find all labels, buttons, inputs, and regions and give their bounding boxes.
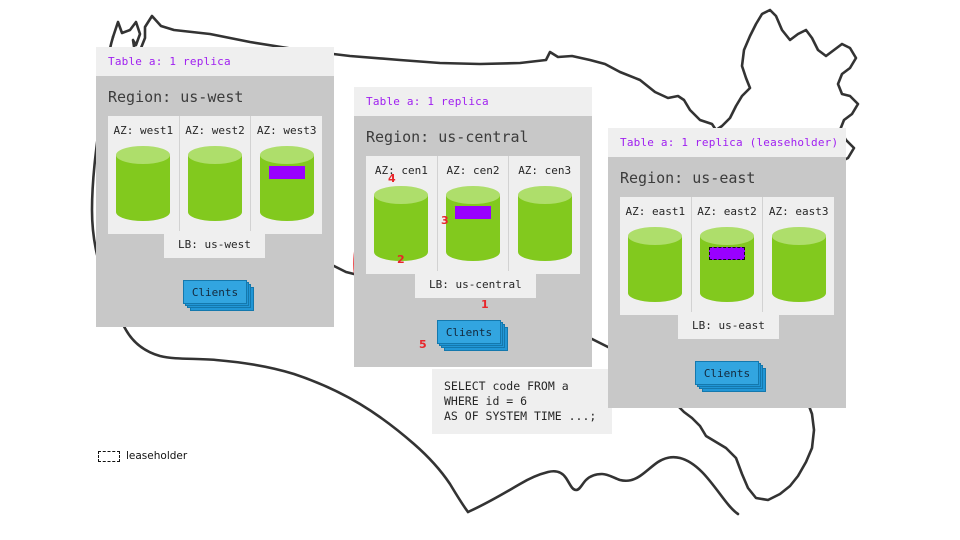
node-cylinder-cen1[interactable] — [374, 186, 428, 260]
node-cylinder-east3[interactable] — [772, 227, 826, 301]
step-number-5: 5 — [419, 338, 427, 351]
legend: leaseholder — [98, 450, 187, 462]
az-cen3[interactable]: AZ: cen3 — [509, 156, 580, 274]
cylinder-top — [116, 146, 170, 164]
cylinder-top — [188, 146, 242, 164]
region-banner-us-west: Table a: 1 replica — [96, 47, 334, 76]
region-panel-us-central: Table a: 1 replica Region: us-central AZ… — [354, 87, 592, 367]
step-number-3: 3 — [441, 214, 449, 227]
az-west3[interactable]: AZ: west3 — [251, 116, 322, 234]
az-label-cen3: AZ: cen3 — [509, 164, 580, 177]
region-title-us-central: Region: us-central — [354, 116, 592, 156]
node-cylinder-cen3[interactable] — [518, 186, 572, 260]
cylinder-top — [700, 227, 754, 245]
clients-label-us-central: Clients — [437, 320, 501, 344]
replica-marker-cen2 — [455, 206, 491, 219]
az-label-west3: AZ: west3 — [251, 124, 322, 137]
region-panel-us-west: Table a: 1 replica Region: us-west AZ: w… — [96, 47, 334, 327]
cylinder-top — [260, 146, 314, 164]
dashed-rect-icon — [98, 451, 120, 462]
az-strip-us-west: AZ: west1 AZ: west2 AZ: west3 — [108, 116, 322, 234]
cylinder-top — [374, 186, 428, 204]
gulf-coast-path — [468, 457, 738, 514]
clients-label-us-east: Clients — [695, 361, 759, 385]
cylinder-top — [518, 186, 572, 204]
az-strip-us-east: AZ: east1 AZ: east2 AZ: east3 — [620, 197, 834, 315]
node-cylinder-east2[interactable] — [700, 227, 754, 301]
clients-label-us-west: Clients — [183, 280, 247, 304]
step-number-1: 1 — [481, 298, 489, 311]
az-label-east2: AZ: east2 — [692, 205, 763, 218]
az-west1[interactable]: AZ: west1 — [108, 116, 180, 234]
clients-stack-us-central[interactable]: Clients — [437, 320, 501, 344]
region-banner-us-central: Table a: 1 replica — [354, 87, 592, 116]
load-balancer-us-west[interactable]: LB: us-west — [164, 231, 265, 258]
region-banner-us-east: Table a: 1 replica (leaseholder) — [608, 128, 846, 157]
az-west2[interactable]: AZ: west2 — [180, 116, 252, 234]
region-title-us-east: Region: us-east — [608, 157, 846, 197]
step-number-4: 4 — [388, 172, 396, 185]
cylinder-top — [772, 227, 826, 245]
diagram-stage: Table a: 1 replica Region: us-west AZ: w… — [0, 0, 960, 540]
az-label-east3: AZ: east3 — [763, 205, 834, 218]
az-label-cen1: AZ: cen1 — [366, 164, 437, 177]
step-number-2: 2 — [397, 253, 405, 266]
az-label-east1: AZ: east1 — [620, 205, 691, 218]
az-label-west1: AZ: west1 — [108, 124, 179, 137]
load-balancer-us-central[interactable]: LB: us-central — [415, 271, 536, 298]
legend-label: leaseholder — [126, 450, 187, 462]
node-cylinder-west1[interactable] — [116, 146, 170, 220]
region-panel-us-east: Table a: 1 replica (leaseholder) Region:… — [608, 128, 846, 408]
sql-query-box: SELECT code FROM a WHERE id = 6 AS OF SY… — [432, 369, 612, 434]
az-east3[interactable]: AZ: east3 — [763, 197, 834, 315]
region-title-us-west: Region: us-west — [96, 76, 334, 116]
node-cylinder-west2[interactable] — [188, 146, 242, 220]
cylinder-top — [628, 227, 682, 245]
az-east1[interactable]: AZ: east1 — [620, 197, 692, 315]
az-east2[interactable]: AZ: east2 — [692, 197, 764, 315]
replica-marker-leaseholder-east2 — [709, 247, 745, 260]
clients-stack-us-west[interactable]: Clients — [183, 280, 247, 304]
replica-marker-west3 — [269, 166, 305, 179]
load-balancer-us-east[interactable]: LB: us-east — [678, 312, 779, 339]
cylinder-top — [446, 186, 500, 204]
node-cylinder-east1[interactable] — [628, 227, 682, 301]
node-cylinder-cen2[interactable] — [446, 186, 500, 260]
az-label-west2: AZ: west2 — [180, 124, 251, 137]
az-label-cen2: AZ: cen2 — [438, 164, 509, 177]
clients-stack-us-east[interactable]: Clients — [695, 361, 759, 385]
node-cylinder-west3[interactable] — [260, 146, 314, 220]
